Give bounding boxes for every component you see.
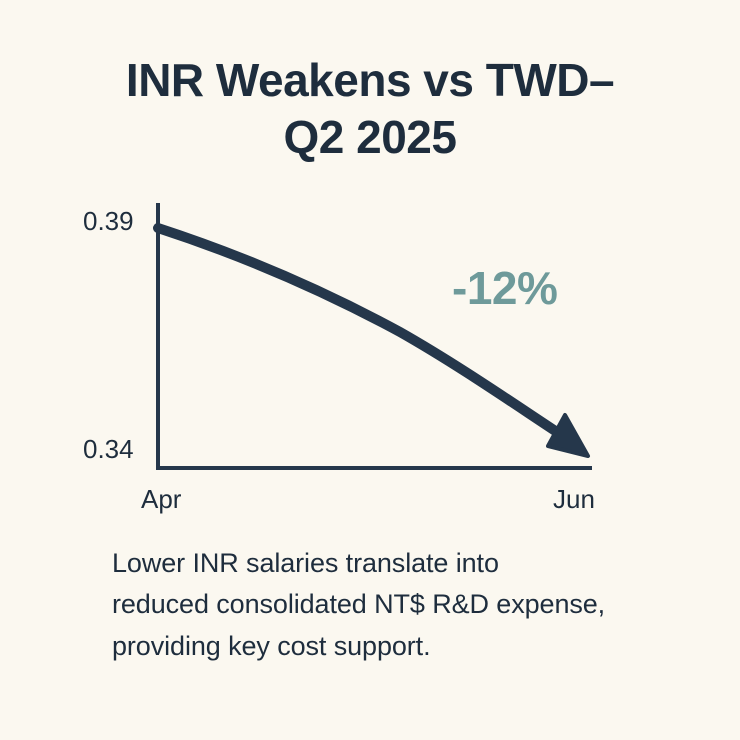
- x-axis-tick-apr: Apr: [141, 484, 181, 515]
- trend-line: [158, 228, 566, 438]
- infographic-card: INR Weakens vs TWD– Q2 2025 0.39 0.34 Ap…: [0, 0, 740, 740]
- caption-block: Lower INR salaries translate into reduce…: [112, 543, 672, 667]
- page-title: INR Weakens vs TWD– Q2 2025: [60, 52, 680, 166]
- y-axis-label-bottom: 0.34: [83, 434, 134, 465]
- caption-line-1: Lower INR salaries translate into: [112, 543, 672, 584]
- trend-arrowhead-icon: [548, 415, 588, 456]
- caption-line-2: reduced consolidated NT$ R&D expense,: [112, 584, 672, 625]
- x-axis-tick-jun: Jun: [553, 484, 595, 515]
- caption-line-3: providing key cost support.: [112, 626, 672, 667]
- title-line-1: INR Weakens vs TWD–: [60, 52, 680, 109]
- delta-annotation: -12%: [452, 261, 557, 315]
- y-axis-label-top: 0.39: [83, 206, 134, 237]
- title-line-2: Q2 2025: [60, 109, 680, 166]
